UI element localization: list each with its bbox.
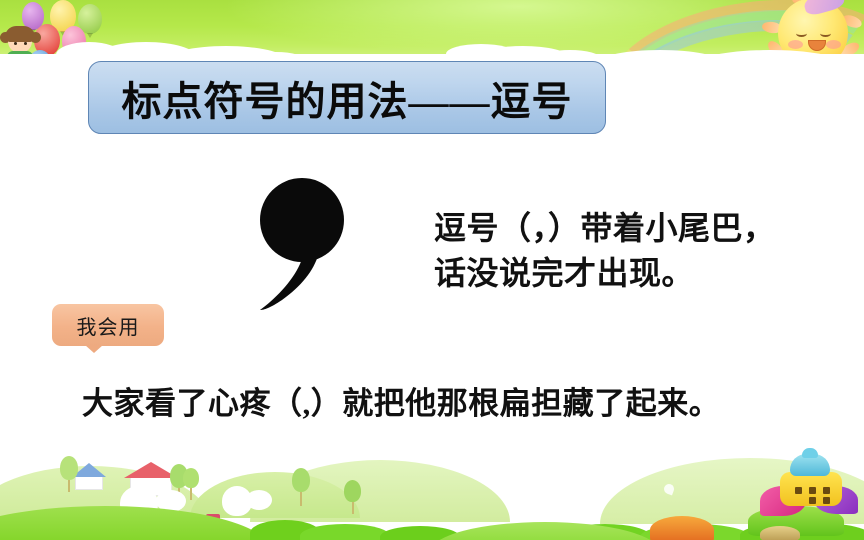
tree-crown bbox=[344, 480, 361, 502]
castle-window bbox=[823, 487, 830, 494]
child-hair bbox=[5, 26, 35, 42]
sun-eye bbox=[820, 30, 831, 37]
explanation-line-2: 话没说完才出现。 bbox=[434, 251, 854, 296]
comma-tail bbox=[258, 230, 344, 310]
sun-cheek bbox=[788, 40, 803, 49]
badge-label: 我会用 bbox=[77, 311, 140, 340]
child-eye bbox=[24, 42, 27, 45]
explanation-text: 逗号（，）带着小尾巴， 话没说完才出现。 bbox=[434, 206, 854, 297]
house-blue-body bbox=[75, 476, 103, 490]
tree-crown bbox=[60, 456, 78, 480]
badge-callout: 我会用 bbox=[52, 304, 164, 350]
castle-window bbox=[809, 497, 816, 504]
rock-orange bbox=[650, 516, 714, 540]
bush bbox=[300, 524, 390, 540]
sun-cheek bbox=[826, 40, 841, 49]
castle-top-knob bbox=[802, 448, 818, 458]
large-comma-mark bbox=[250, 178, 362, 310]
slide-canvas: 标点符号的用法——逗号 逗号（，）带着小尾巴， 话没说完才出现。 我会用 大家看… bbox=[0, 0, 864, 540]
slide-title-box: 标点符号的用法——逗号 bbox=[88, 61, 606, 134]
castle-window bbox=[795, 487, 802, 494]
explanation-line-1: 逗号（，）带着小尾巴， bbox=[434, 206, 854, 251]
hedgehog-figure bbox=[760, 526, 800, 540]
bunny-figure bbox=[246, 490, 272, 510]
status-badge: 我会用 bbox=[52, 304, 164, 346]
top-decoration-band bbox=[0, 0, 864, 64]
castle-window bbox=[809, 487, 816, 494]
bottom-decoration-scene bbox=[0, 430, 864, 540]
sun-eye bbox=[796, 30, 807, 37]
example-sentence: 大家看了心疼（,）就把他那根扁担藏了起来。 bbox=[82, 378, 822, 423]
castle-window bbox=[823, 497, 830, 504]
tree-crown bbox=[183, 468, 199, 488]
tree-crown bbox=[292, 468, 310, 492]
page-title: 标点符号的用法——逗号 bbox=[122, 69, 573, 127]
badge-tail bbox=[85, 345, 103, 353]
child-eye bbox=[14, 42, 17, 45]
